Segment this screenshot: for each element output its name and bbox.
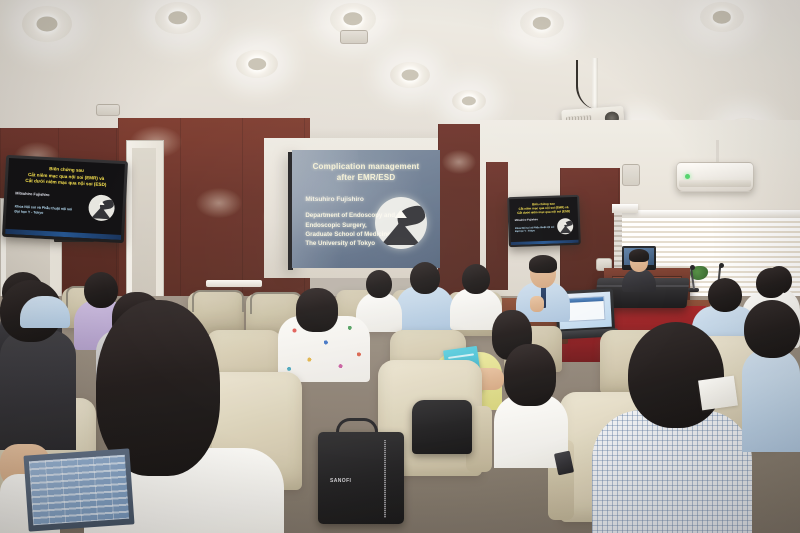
air-conditioner-unit	[676, 162, 754, 192]
ceiling-downlight	[520, 8, 564, 38]
ceiling-downlight	[236, 50, 278, 78]
wall-speaker-box	[622, 164, 640, 186]
audience-head	[410, 262, 440, 294]
audience-head	[744, 300, 800, 358]
audience-head	[84, 272, 118, 308]
ceiling-downlight	[155, 2, 201, 34]
audience-head	[366, 270, 392, 298]
ac-louver	[679, 180, 750, 187]
audience-laptop[interactable]	[23, 448, 134, 531]
vn-slide-title: Biến chứng sau Cắt niêm mạc qua nội soi …	[513, 201, 573, 216]
ac-power-led	[685, 174, 690, 179]
audience-torso-blue-right	[742, 348, 800, 452]
audience-head-long-hair	[504, 344, 556, 406]
ceiling-vent	[96, 104, 120, 116]
podium-person-hair	[629, 249, 649, 262]
mount-fuji-logo-icon	[375, 197, 427, 249]
vn-slide-affiliation: Khoa Nội soi và Phẫu thuật nội soi Đại h…	[515, 225, 555, 234]
laptop-window	[564, 296, 606, 322]
presenter-hair	[529, 255, 557, 273]
microphone-head-icon	[719, 263, 724, 268]
foreground-torso-dark	[0, 330, 76, 450]
mount-fuji-logo-icon	[557, 218, 574, 235]
microphone-head-icon	[690, 265, 695, 270]
laptop-titlebar	[565, 297, 604, 303]
right-monitor-bezel: Biến chứng sau Cắt niêm mạc qua nội soi …	[507, 195, 581, 247]
audience-head-long-hair	[296, 288, 338, 332]
audience-head	[462, 264, 490, 294]
black-bag-secondary[interactable]	[412, 400, 472, 454]
slide-title-line2: after EMR/ESD	[337, 173, 396, 182]
wall-light-reflection	[196, 188, 242, 218]
audience-head	[756, 268, 786, 298]
audience-laptop-screen	[29, 455, 129, 525]
left-monitor-bezel: Biến chứng sau Cắt niêm mạc qua nội soi …	[2, 155, 128, 243]
wall-light-reflection	[442, 150, 476, 174]
chair-frame-far	[192, 290, 244, 312]
bag-zipper	[384, 440, 386, 518]
ceiling-downlight	[700, 2, 744, 32]
conference-bag[interactable]: SANOFI	[318, 432, 404, 524]
mount-fuji-logo-icon	[88, 194, 115, 221]
affiliation-line-2: Endoscopic Surgery,	[305, 222, 366, 229]
slide-title-line1: Complication management	[313, 162, 420, 171]
bag-brand-logo: SANOFI	[330, 478, 351, 484]
vn-affil-line2: Đại học Y - Tokyo	[14, 209, 43, 215]
slide-presenter-name: Mitsuhiro Fujishiro	[305, 196, 364, 203]
chair-frame-far	[250, 292, 302, 314]
monitor-bottom-strip	[511, 240, 579, 245]
paper-sheet	[698, 376, 738, 411]
audience-head	[708, 278, 742, 312]
vn-slide-presenter: Mitsuhiro Fujishiro	[15, 192, 49, 198]
main-projection-screen[interactable]: Complication management after EMR/ESD Mi…	[292, 150, 440, 268]
vn-slide-affiliation: Khoa Nội soi và Phẫu thuật nội soi Đại h…	[14, 204, 72, 217]
vn-title-line3: Cắt dưới niêm mạc qua nội soi (ESD)	[517, 209, 570, 215]
ceiling-downlight	[22, 6, 72, 42]
vn-slide-presenter: Mitsuhiro Fujishiro	[515, 218, 538, 222]
logo-mountain-icon	[381, 221, 421, 245]
ceiling-vent	[340, 30, 368, 44]
left-wall-monitor[interactable]: Biến chứng sau Cắt niêm mạc qua nội soi …	[5, 158, 125, 240]
affiliation-line-4: The University of Tokyo	[305, 240, 375, 247]
wood-wall-far-right	[486, 162, 508, 290]
logo-mountain-icon	[559, 226, 571, 234]
conference-hall-photo: Complication management after EMR/ESD Mi…	[0, 0, 800, 533]
vn-slide-title: Biến chứng sau Cắt niêm mạc qua nội soi …	[15, 164, 118, 189]
vn-affil-line2: Đại học Y - Tokyo	[515, 230, 535, 234]
door-panel-center	[132, 148, 156, 310]
foreground-torso-checked	[592, 410, 752, 533]
foreground-head	[628, 322, 724, 428]
wall-trim-strip	[206, 280, 262, 287]
audience-torso	[20, 296, 70, 328]
ceiling-downlight	[452, 90, 486, 112]
right-wall-monitor[interactable]: Biến chứng sau Cắt niêm mạc qua nội soi …	[509, 197, 579, 245]
slide-title: Complication management after EMR/ESD	[304, 162, 428, 184]
presenter-hand	[530, 296, 544, 312]
booklet-line	[448, 353, 474, 358]
ceiling-downlight	[390, 62, 430, 88]
